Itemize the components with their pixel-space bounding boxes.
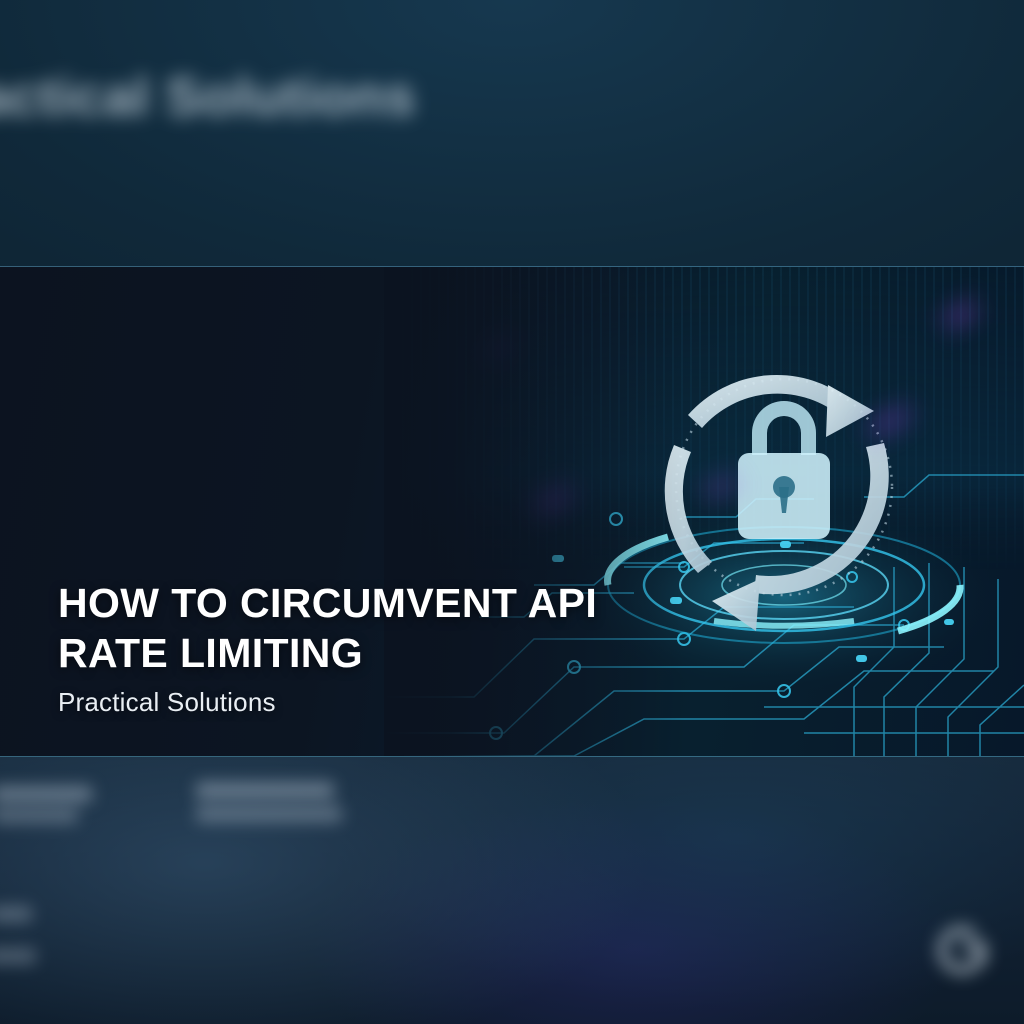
page-background-bottom (0, 755, 1024, 1024)
headline-line-2: RATE LIMITING (58, 628, 597, 678)
blurred-text-block (0, 786, 92, 802)
banner-screenshot: actical Solutions (0, 0, 1024, 1024)
page-title: HOW TO CIRCUMVENT API RATE LIMITING (58, 578, 597, 678)
blurred-text-block (0, 948, 36, 964)
headline-line-1: HOW TO CIRCUMVENT API (58, 578, 597, 628)
blurred-top-title: actical Solutions (0, 66, 416, 128)
blurred-text-block (196, 806, 342, 822)
main-banner: HOW TO CIRCUMVENT API RATE LIMITING Prac… (0, 266, 1024, 757)
banner-artwork (384, 267, 1024, 756)
blurred-text-block (196, 782, 334, 799)
blurred-g-logo (930, 918, 994, 987)
subtitle: Practical Solutions (58, 687, 276, 718)
blurred-text-block (0, 808, 78, 823)
blurred-text-block (0, 906, 32, 922)
artwork-left-fade (384, 267, 684, 756)
